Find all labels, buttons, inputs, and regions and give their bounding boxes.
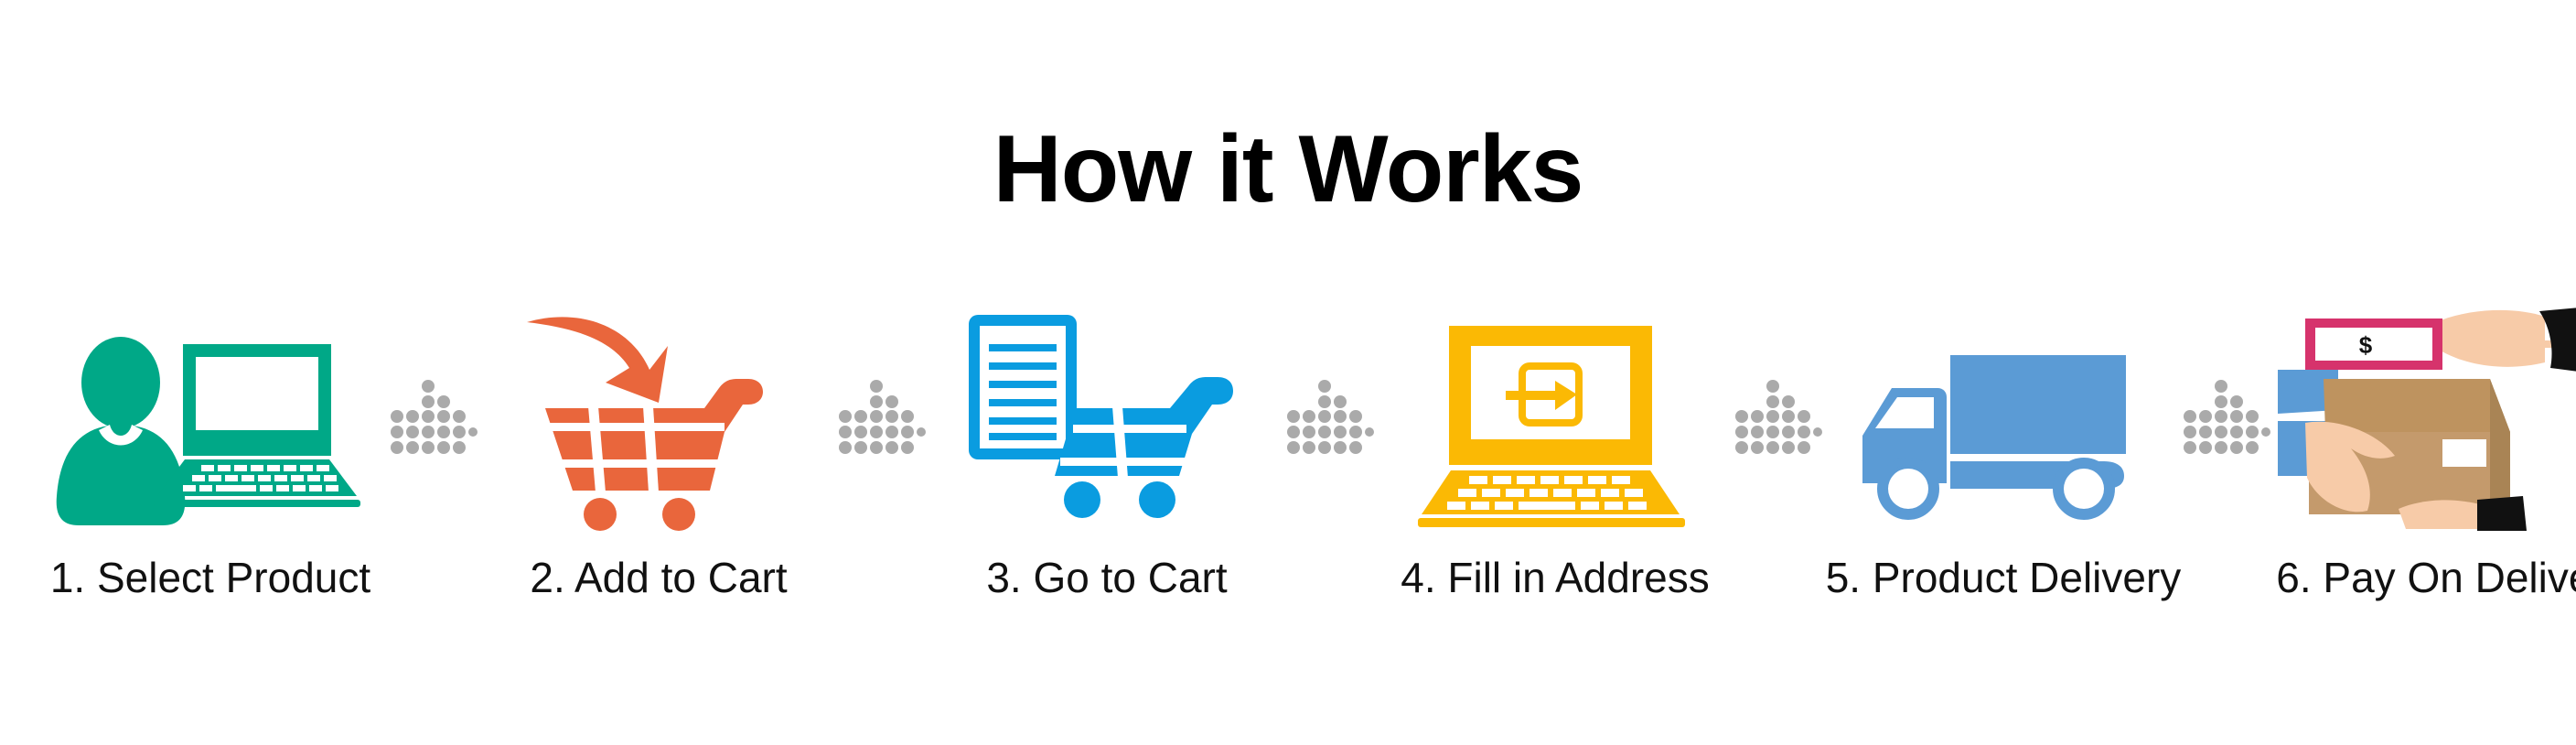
step-4-fill-in-address[interactable]: 4. Fill in Address (1381, 302, 1729, 602)
how-it-works-infographic: How it Works (0, 0, 2576, 745)
step-3-label: 3. Go to Cart (986, 553, 1227, 602)
laptop-with-login-arrow-icon (1381, 302, 1729, 531)
person-with-laptop-icon (37, 302, 384, 531)
dotted-arrow-right-icon-1 (384, 302, 485, 531)
step-3-go-to-cart[interactable]: 3. Go to Cart (933, 302, 1281, 602)
step-4-label: 4. Fill in Address (1401, 553, 1709, 602)
dotted-arrow-right-icon-3 (1281, 302, 1381, 531)
dotted-arrow-right-icon-2 (832, 302, 933, 531)
step-1-select-product[interactable]: 1. Select Product (37, 302, 384, 602)
step-5-product-delivery[interactable]: 5. Product Delivery (1830, 302, 2177, 602)
steps-row: 1. Select Product (37, 302, 2543, 650)
step-2-label: 2. Add to Cart (530, 553, 787, 602)
step-2-add-to-cart[interactable]: 2. Add to Cart (485, 302, 832, 602)
hands-exchanging-box-and-cash-icon: $ (2278, 302, 2576, 531)
step-6-label: 6. Pay On Delivery (2276, 553, 2576, 602)
dotted-arrow-right-icon-4 (1729, 302, 1830, 531)
page-title: How it Works (0, 119, 2576, 220)
document-with-shopping-cart-icon (933, 302, 1281, 531)
arrow-into-shopping-cart-icon (485, 302, 832, 531)
step-6-pay-on-delivery[interactable]: $ 6. Pay On Delivery (2278, 302, 2576, 602)
delivery-truck-icon (1830, 302, 2177, 531)
step-5-label: 5. Product Delivery (1826, 553, 2182, 602)
dotted-arrow-right-icon-5 (2177, 302, 2278, 531)
banknote: $ (2305, 319, 2442, 370)
svg-text:$: $ (2359, 331, 2373, 359)
step-1-label: 1. Select Product (50, 553, 370, 602)
